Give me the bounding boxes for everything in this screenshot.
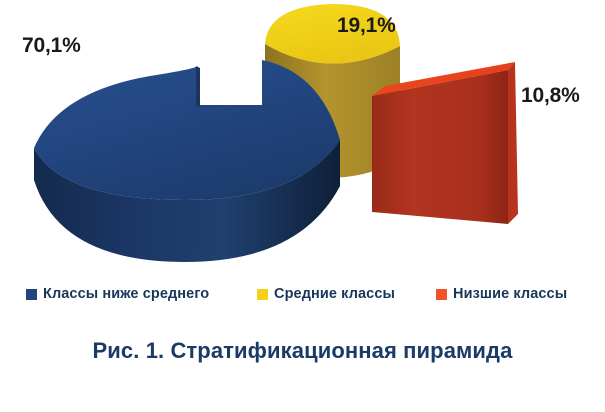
figure-stratification-pyramid: 70,1% 19,1% 10,8% Классы ниже среднего С… [0, 0, 605, 412]
pie-chart-svg [0, 0, 605, 275]
pie-chart-plot: 70,1% 19,1% 10,8% [0, 0, 605, 275]
figure-caption: Рис. 1. Стратификационная пирамида [0, 338, 605, 364]
legend-item-middle-classes: Средние классы [257, 283, 395, 305]
legend-label-middle-classes: Средние классы [274, 286, 395, 302]
legend-swatch-blue [26, 289, 37, 300]
pie-slice-below-average-classes [34, 60, 340, 262]
legend-label-below-average-classes: Классы ниже среднего [43, 286, 209, 302]
legend-item-lower-classes: Низшие классы [436, 283, 567, 305]
pie-slice-below-average-classes-top [34, 60, 340, 200]
pie-slice-lower-classes-edge [508, 62, 518, 224]
legend-swatch-red [436, 289, 447, 300]
data-label-middle-classes: 19,1% [337, 14, 396, 38]
pie-slice-notch-wall-left [196, 66, 200, 107]
data-label-lower-classes: 10,8% [521, 84, 580, 108]
legend-item-below-average-classes: Классы ниже среднего [26, 283, 209, 305]
data-label-below-average-classes: 70,1% [22, 34, 81, 58]
chart-legend: Классы ниже среднего Средние классы Низш… [0, 283, 605, 309]
pie-slice-lower-classes [372, 62, 518, 224]
legend-swatch-yellow [257, 289, 268, 300]
legend-label-lower-classes: Низшие классы [453, 286, 567, 302]
pie-slice-lower-classes-side [372, 70, 508, 224]
